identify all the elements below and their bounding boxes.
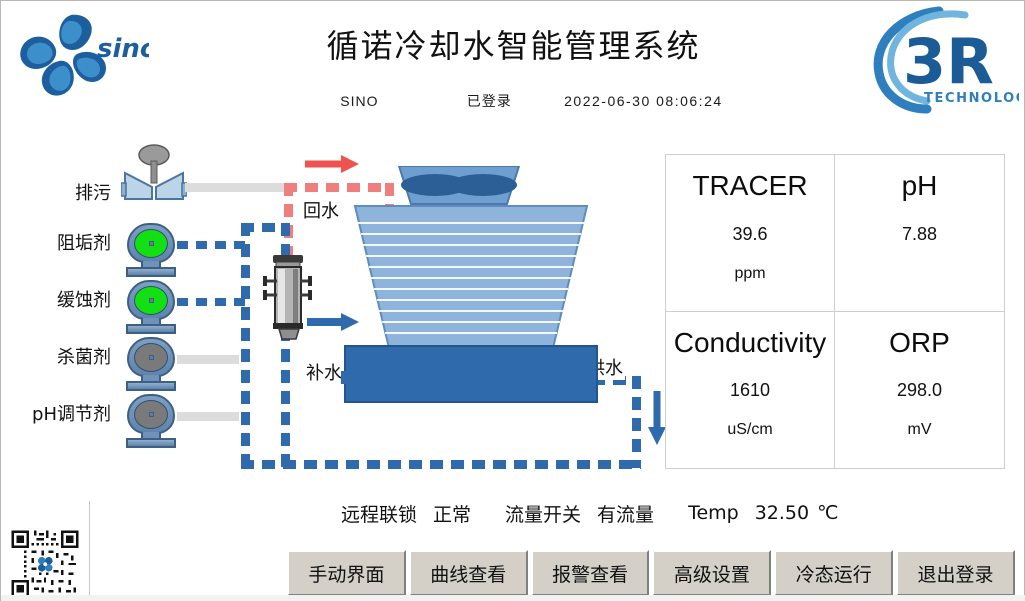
temperature-value: 32.50 — [755, 502, 809, 524]
header: sino 3R TECHNOLOGY 循诺冷却水智能管理系统 SINO 已登录 … — [1, 1, 1025, 121]
system-datetime: 2022-06-30 08:06:24 — [564, 93, 723, 109]
measurement-cell-conductivity: Conductivity 1610 uS/cm — [666, 312, 835, 469]
feedline-scale-inhibitor — [177, 241, 245, 249]
manual-screen-button[interactable]: 手动界面 — [287, 550, 406, 596]
label-scale-inhibitor: 阻垢剂 — [5, 229, 111, 255]
advanced-settings-button[interactable]: 高级设置 — [652, 550, 771, 596]
measurement-cell-tracer: TRACER 39.6 ppm — [666, 155, 835, 312]
button-bar: 手动界面 曲线查看 报警查看 高级设置 冷态运行 退出登录 — [287, 550, 1015, 596]
measurement-value: 7.88 — [902, 224, 937, 245]
pump-corrosion-inhibitor[interactable] — [123, 280, 179, 336]
measurement-unit: ppm — [734, 265, 765, 283]
pipe-ph-adjuster — [177, 412, 239, 421]
blowdown-valve-icon[interactable] — [121, 143, 187, 205]
alarm-view-button[interactable]: 报警查看 — [531, 550, 650, 596]
measurement-unit: mV — [908, 421, 932, 439]
measurement-cell-orp: ORP 298.0 mV — [835, 312, 1004, 469]
loop-pipe-left-riser — [241, 223, 250, 468]
pump-center-dot — [149, 298, 154, 303]
pump-base — [126, 324, 176, 334]
loop-pipe-bottom — [241, 460, 641, 469]
label-corrosion-inhibitor: 缓蚀剂 — [5, 286, 111, 312]
remote-interlock-label: 远程联锁 — [341, 500, 417, 527]
measurement-value: 1610 — [730, 380, 770, 401]
qr-code — [9, 528, 81, 600]
measurement-name: Conductivity — [674, 328, 827, 359]
measurement-value: 298.0 — [897, 380, 942, 401]
pump-center-dot — [149, 355, 154, 360]
temperature-label: Temp — [688, 502, 739, 524]
flow-switch-label: 流量开关 — [505, 500, 581, 527]
measurement-unit: uS/cm — [727, 421, 772, 439]
pump-center-dot — [149, 412, 154, 417]
measurement-panel: TRACER 39.6 ppm pH 7.88 Conductivity 161… — [665, 154, 1005, 469]
fan-blade-right — [449, 174, 517, 196]
label-biocide: 杀菌剂 — [5, 343, 111, 369]
status-row: 远程联锁 正常 流量开关 有流量 Temp 32.50 ℃ — [341, 496, 1011, 530]
pump-center-dot — [149, 241, 154, 246]
pipe-biocide — [177, 355, 239, 364]
pump-base — [126, 267, 176, 277]
supply-pipe-riser — [632, 376, 641, 468]
label-ph-adjuster: pH调节剂 — [1, 400, 111, 426]
pipe-blowdown — [185, 183, 285, 192]
pump-biocide[interactable] — [123, 337, 179, 393]
measurement-name: ORP — [889, 328, 950, 359]
remote-interlock-value: 正常 — [433, 500, 471, 527]
pump-base — [126, 381, 176, 391]
label-return-water: 回水 — [301, 197, 341, 223]
pump-base — [126, 438, 176, 448]
header-status-line: SINO 已登录 2022-06-30 08:06:24 — [1, 91, 1025, 111]
logged-user: SINO — [304, 93, 414, 109]
measurement-name: TRACER — [692, 171, 807, 202]
footer-strip — [1, 595, 1025, 601]
makeup-inlet-drop — [400, 371, 413, 401]
hmi-screen: sino 3R TECHNOLOGY 循诺冷却水智能管理系统 SINO 已登录 … — [0, 0, 1025, 601]
flow-switch-value: 有流量 — [597, 500, 654, 527]
label-makeup-water: 补水 — [304, 359, 344, 385]
temperature-unit: ℃ — [817, 502, 838, 524]
page-title: 循诺冷却水智能管理系统 — [1, 21, 1025, 67]
trend-curve-button[interactable]: 曲线查看 — [409, 550, 528, 596]
cold-start-button[interactable]: 冷态运行 — [774, 550, 893, 596]
footer-divider — [89, 501, 90, 601]
measurement-cell-ph: pH 7.88 — [835, 155, 1004, 312]
pump-ph-adjuster[interactable] — [123, 394, 179, 450]
measurement-value: 39.6 — [732, 224, 767, 245]
measurement-name: pH — [902, 171, 938, 202]
logout-button[interactable]: 退出登录 — [896, 550, 1015, 596]
pump-scale-inhibitor[interactable] — [123, 223, 179, 279]
login-status: 已登录 — [419, 91, 559, 111]
label-blowdown: 排污 — [13, 179, 111, 205]
feedline-corrosion-inhibitor — [177, 298, 245, 306]
